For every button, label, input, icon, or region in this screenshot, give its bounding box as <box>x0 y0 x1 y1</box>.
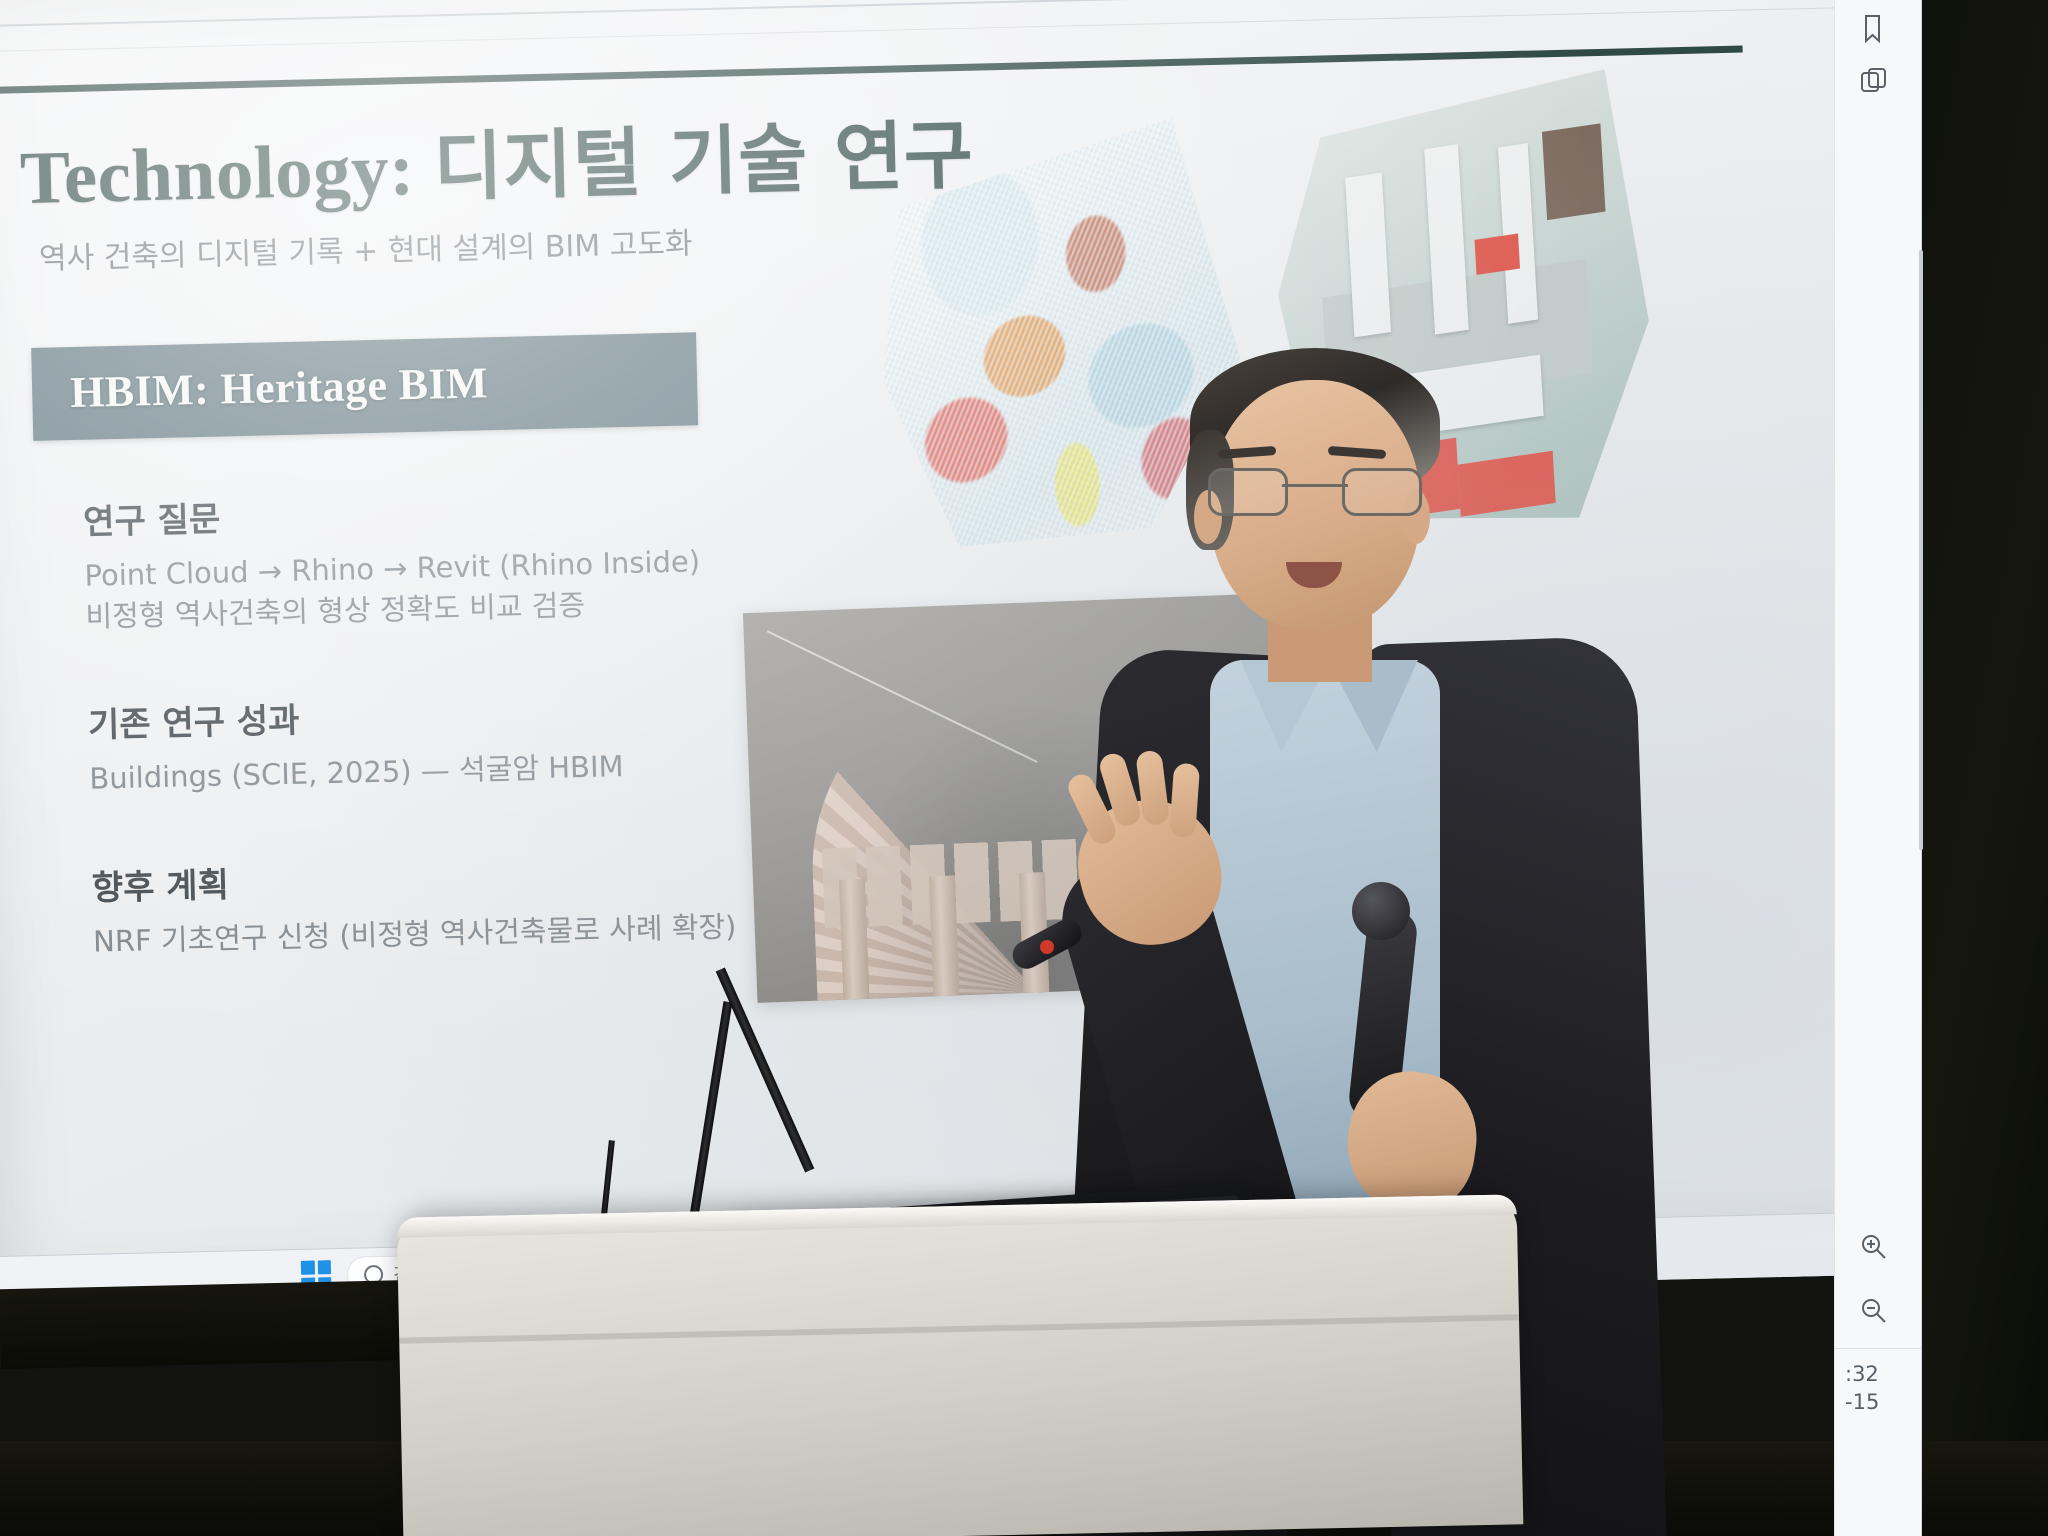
status-clock: :32 -15 <box>1845 1360 1921 1417</box>
panel-divider <box>1835 1348 1921 1349</box>
section-banner: HBIM: Heritage BIM <box>31 332 698 441</box>
clock-time: :32 <box>1845 1360 1921 1388</box>
copy-icon[interactable] <box>1851 58 1897 104</box>
page-title: Technology: 디지털 기술 연구 <box>19 94 975 225</box>
section-block: 연구 질문 Point Cloud → Rhino → Revit (Rhino… <box>83 477 846 638</box>
slide-body-sections: 연구 질문 Point Cloud → Rhino → Revit (Rhino… <box>83 477 855 1022</box>
lens-left <box>1208 468 1288 516</box>
section-block: 향후 계획 NRF 기초연구 신청 (비정형 역사건축물로 사례 확장) <box>91 842 853 962</box>
section-block: 기존 연구 성과 Buildings (SCIE, 2025) — 석굴암 HB… <box>87 680 849 800</box>
slide-subtitle: 역사 건축의 디지털 기록 + 현대 설계의 BIM 고도화 <box>38 218 692 277</box>
slide-title-en: Technology: <box>19 128 415 220</box>
section-banner-label: HBIM: Heritage BIM <box>70 357 489 418</box>
clock-date: -15 <box>1845 1388 1921 1416</box>
glasses-bridge <box>1282 484 1348 487</box>
lectern <box>397 1194 1524 1536</box>
lens-right <box>1342 468 1422 516</box>
microphone-head <box>1352 882 1410 940</box>
zoom-out-icon[interactable] <box>1851 1288 1897 1334</box>
section-line: Buildings (SCIE, 2025) — 석굴암 HBIM <box>89 741 850 800</box>
section-heading: 향후 계획 <box>91 842 852 909</box>
mic-indicator-light <box>1040 940 1054 954</box>
room-scene: Technology: 디지털 기술 연구 역사 건축의 디지털 기록 + 현대… <box>0 0 2048 1536</box>
window-chrome-line-top <box>0 0 1931 28</box>
glasses <box>1208 468 1422 510</box>
lectern-band <box>399 1314 1519 1343</box>
section-heading: 기존 연구 성과 <box>87 680 848 747</box>
zoom-in-icon[interactable] <box>1851 1224 1897 1270</box>
section-line: NRF 기초연구 신청 (비정형 역사건축물로 사례 확장) <box>93 903 854 962</box>
app-side-panel: :32 -15 <box>1834 0 1922 1536</box>
projection-screen: Technology: 디지털 기술 연구 역사 건축의 디지털 기록 + 현대… <box>0 0 1963 1380</box>
title-divider-rule <box>0 46 1743 95</box>
projection-surface: Technology: 디지털 기술 연구 역사 건축의 디지털 기록 + 현대… <box>0 0 1961 1320</box>
panel-scrollbar[interactable] <box>1919 250 1923 850</box>
bookmark-icon[interactable] <box>1851 6 1897 52</box>
section-heading: 연구 질문 <box>83 477 844 544</box>
